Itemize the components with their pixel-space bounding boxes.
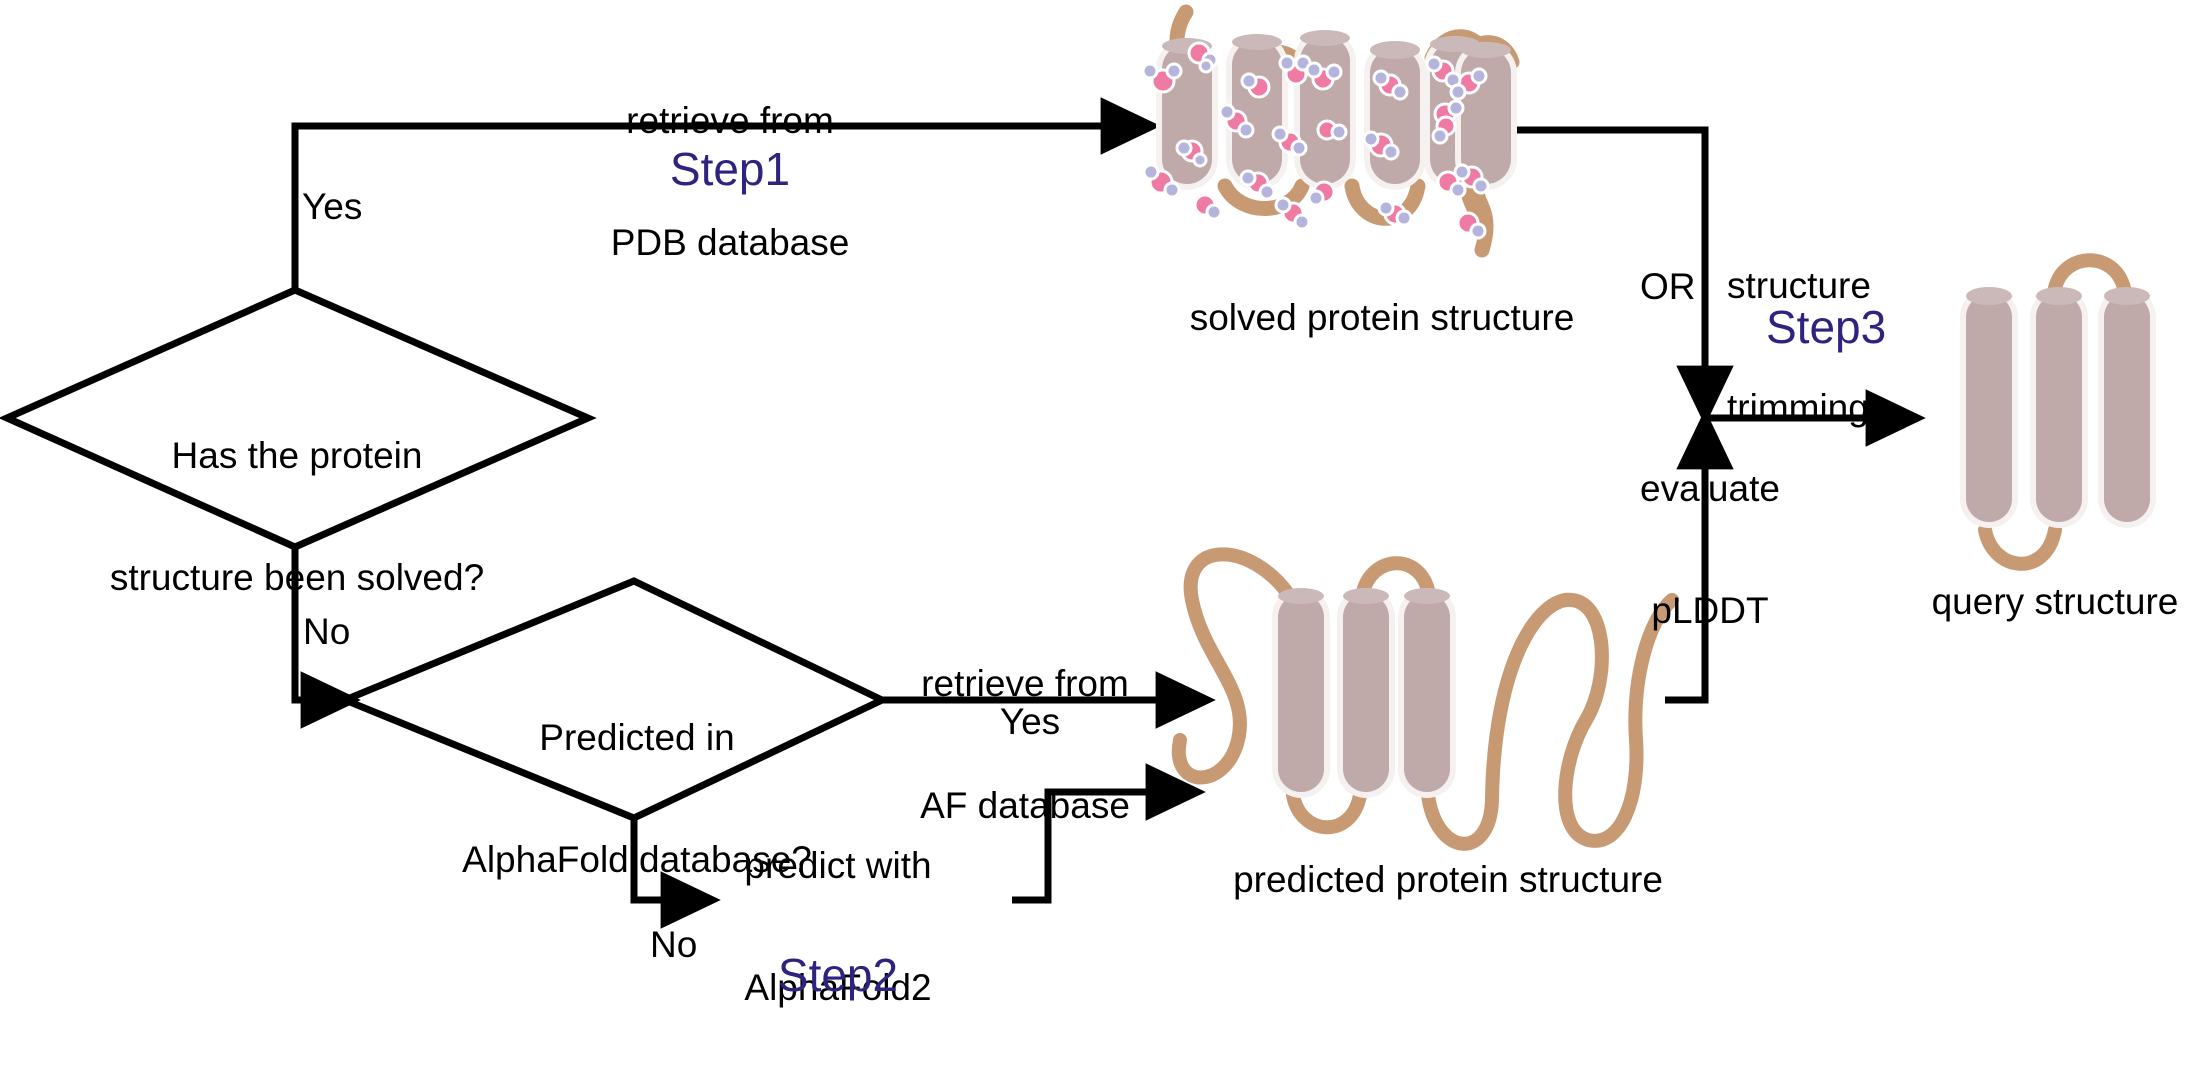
caption-query-structure: query structure	[1932, 582, 2179, 623]
edge-label-no-main: No	[303, 612, 350, 653]
evaluate-plddt-line1: evaluate	[1640, 469, 1780, 510]
edge-label-yes-top: Yes	[302, 187, 362, 228]
step1-label: Step1	[670, 142, 790, 196]
loop-bottom	[1985, 530, 2055, 564]
retrieve-af-line2: AF database	[920, 786, 1130, 827]
evaluate-plddt-line2: pLDDT	[1640, 591, 1780, 632]
or-junction-label: OR	[1640, 267, 1696, 308]
edge-label-no-af: No	[650, 925, 697, 966]
decision2-line1: Predicted in	[462, 718, 812, 759]
loop-top	[2055, 260, 2124, 288]
edge-label-retrieve-af: retrieve from AF database	[920, 583, 1130, 909]
decision1-line1: Has the protein	[110, 436, 484, 477]
retrieve-pdb-line2: PDB database	[611, 223, 850, 264]
decision1-line2: structure been solved?	[110, 558, 484, 599]
predict-af2-line1: predict with	[744, 846, 931, 887]
helix	[1960, 287, 2018, 528]
edge-label-evaluate-plddt: evaluate pLDDT	[1640, 388, 1780, 714]
caption-predicted-structure: predicted protein structure	[1233, 860, 1663, 901]
retrieve-af-line1: retrieve from	[920, 664, 1130, 705]
helix	[2030, 287, 2088, 528]
flowchart-canvas: retrieve from PDB database Step1 Yes Has…	[0, 0, 2208, 998]
retrieve-pdb-line1: retrieve from	[611, 101, 850, 142]
edge-label-predict-af2: predict with AlphaFold2	[744, 765, 931, 1091]
step3-label: Step3	[1766, 300, 1886, 354]
decision1-text: Has the protein structure been solved?	[110, 355, 484, 681]
helix	[2098, 287, 2156, 528]
edge-label-yes-af: Yes	[1000, 702, 1060, 743]
caption-solved-structure: solved protein structure	[1190, 298, 1575, 339]
step2-label: Step2	[778, 948, 898, 1002]
